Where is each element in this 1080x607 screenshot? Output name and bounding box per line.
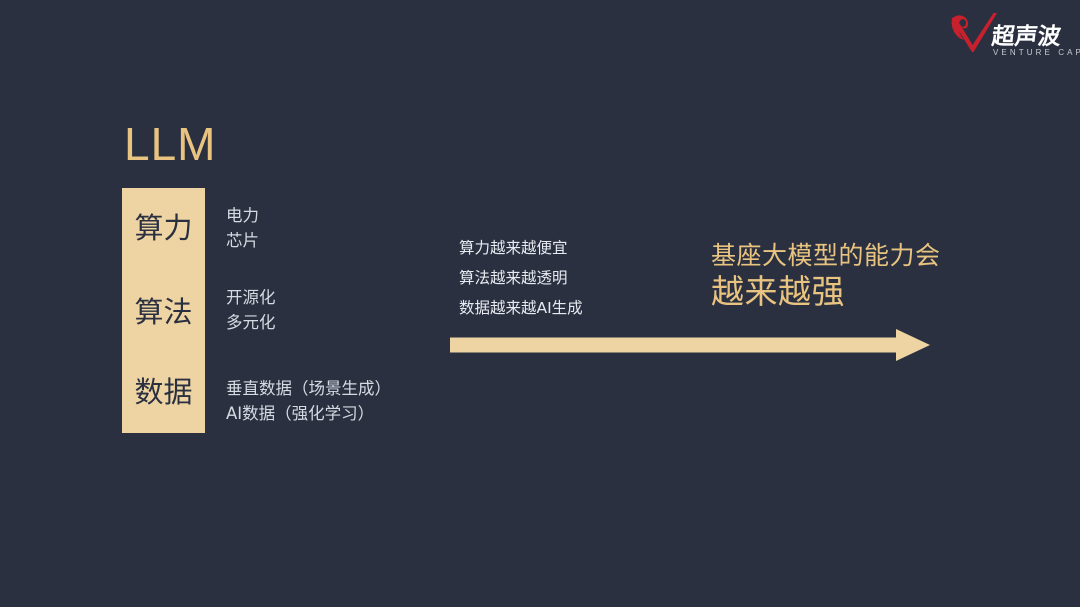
company-logo: 超声波 VENTURE CAPITAL xyxy=(948,12,1066,66)
trend-item: 算法越来越透明 xyxy=(459,263,583,293)
stack-layer-label-compute: 算力 xyxy=(122,214,205,243)
stack-layer-label-data: 数据 xyxy=(122,378,205,407)
stack-box: 算力 算法 数据 xyxy=(122,188,205,433)
trend-item: 算力越来越便宜 xyxy=(459,233,583,263)
conclusion-line-1: 基座大模型的能力会 xyxy=(711,239,941,272)
detail-group-algorithm: 开源化 多元化 xyxy=(226,285,276,335)
detail-item: 多元化 xyxy=(226,310,276,335)
page-title: LLM xyxy=(124,121,216,167)
detail-item: 垂直数据（场景生成） xyxy=(226,376,391,401)
detail-group-compute: 电力 芯片 xyxy=(226,203,259,253)
logo-name-cn: 超声波 xyxy=(990,17,1063,51)
detail-item: 电力 xyxy=(226,203,259,228)
stack-layer-label-algorithm: 算法 xyxy=(122,298,205,327)
trend-list: 算力越来越便宜 算法越来越透明 数据越来越AI生成 xyxy=(459,233,583,323)
slide-canvas: 超声波 VENTURE CAPITAL LLM 算力 算法 数据 电力 芯片 开… xyxy=(0,0,1080,607)
trend-arrow-icon xyxy=(449,328,931,362)
logo-name-en: VENTURE CAPITAL xyxy=(993,48,1080,57)
conclusion-line-2: 越来越强 xyxy=(711,272,941,312)
detail-item: 芯片 xyxy=(226,228,259,253)
detail-item: AI数据（强化学习） xyxy=(226,401,391,426)
detail-group-data: 垂直数据（场景生成） AI数据（强化学习） xyxy=(226,376,391,426)
detail-item: 开源化 xyxy=(226,285,276,310)
trend-item: 数据越来越AI生成 xyxy=(459,293,583,323)
conclusion-text: 基座大模型的能力会 越来越强 xyxy=(711,239,941,312)
